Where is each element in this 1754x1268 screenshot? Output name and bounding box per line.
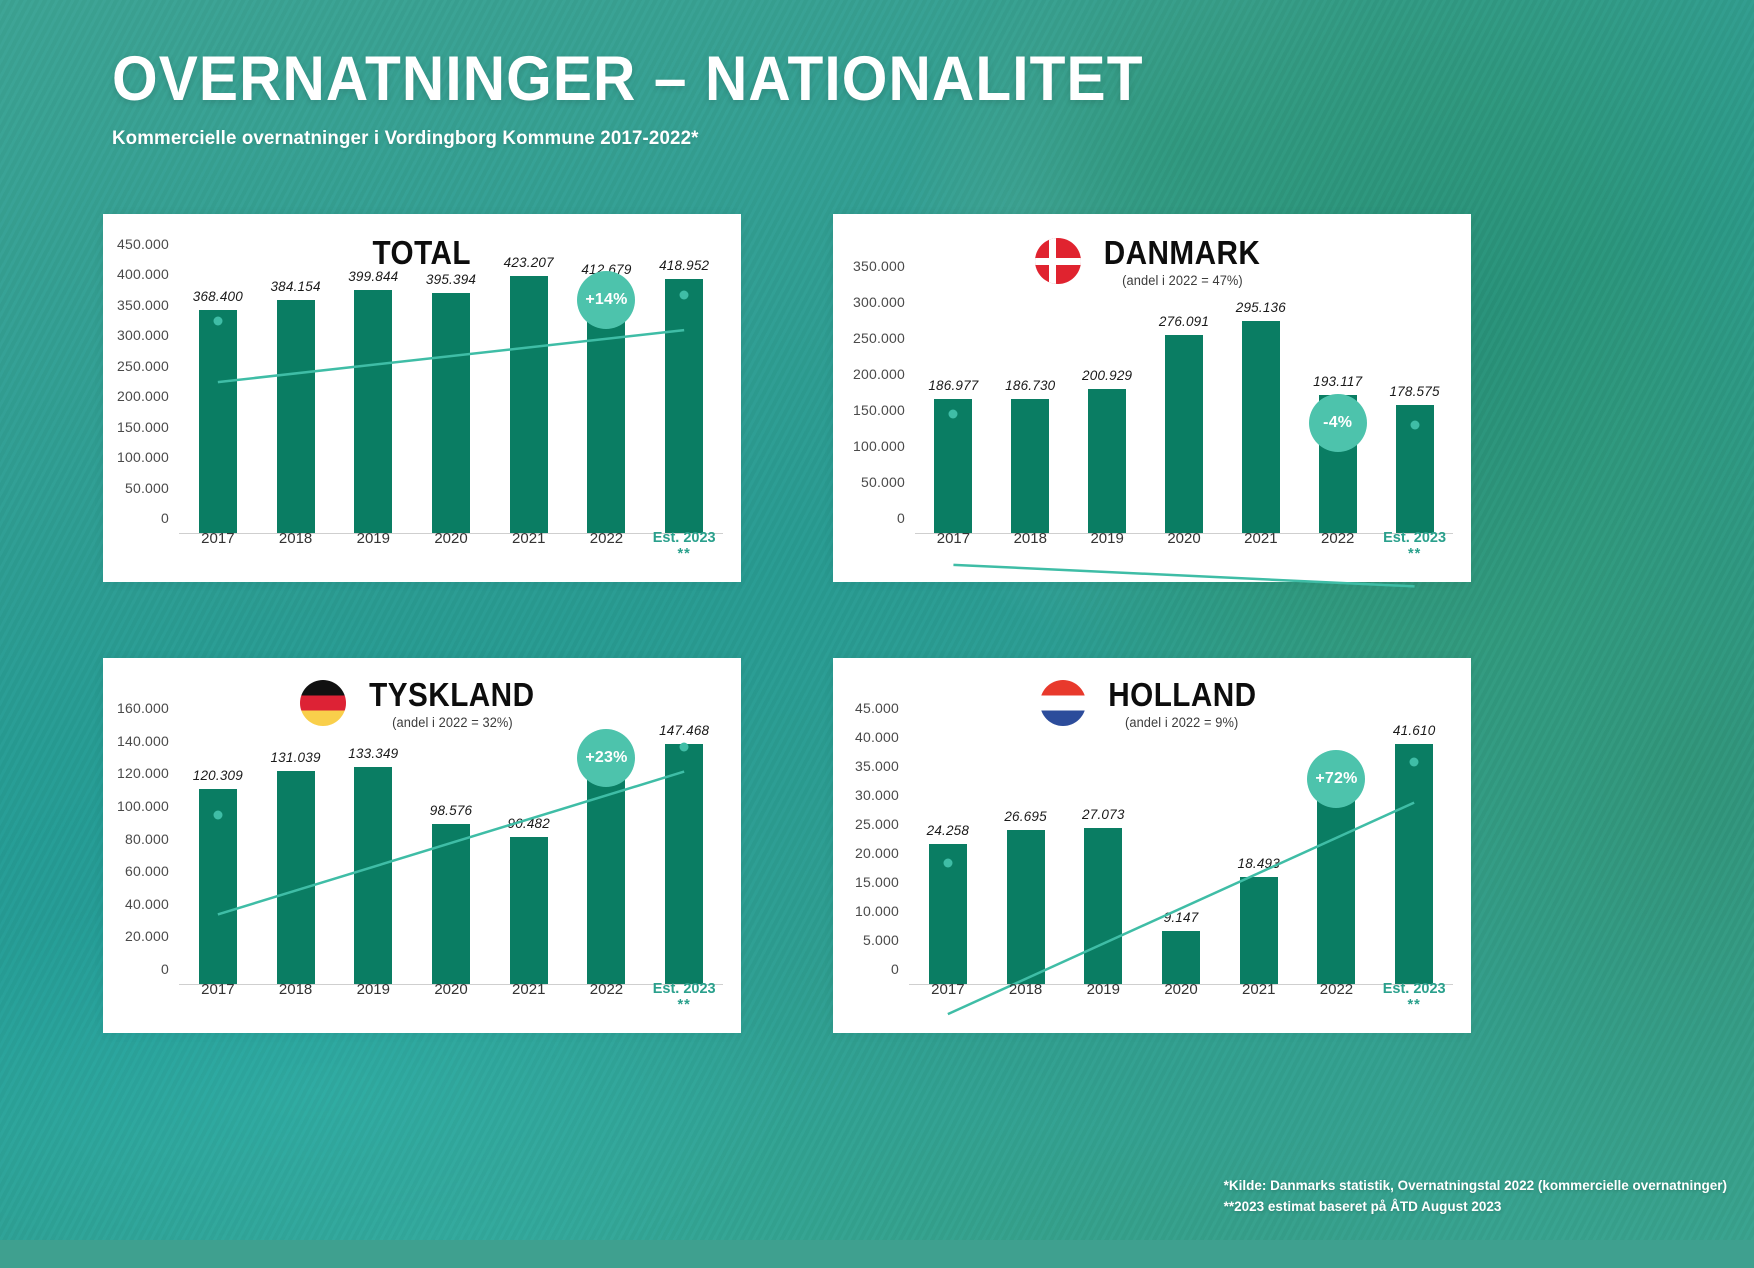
y-tick-label: 160.000: [117, 700, 169, 716]
bar-2018: [1011, 399, 1049, 533]
y-tick-label: 300.000: [117, 327, 169, 343]
bar-column: 147.468: [645, 724, 723, 984]
y-tick-label: 40.000: [125, 896, 169, 912]
growth-badge-holland: +72%: [1307, 750, 1365, 808]
bar-value-label: 193.117: [1313, 374, 1362, 389]
y-tick-label: 25.000: [855, 816, 899, 832]
bar-value-label: 399.844: [348, 269, 398, 284]
x-label-2019: 2019: [334, 981, 412, 1013]
chart-card-total: TOTAL050.000100.000150.000200.000250.000…: [103, 214, 741, 582]
y-tick-label: 200.000: [853, 366, 905, 382]
y-tick-label: 120.000: [117, 765, 169, 781]
y-tick-label: 400.000: [117, 266, 169, 282]
y-tick-label: 0: [891, 961, 899, 977]
bar-value-label: 186.977: [928, 378, 978, 393]
trend-end-dot: [680, 742, 689, 751]
plot-area-tyskland: 020.00040.00060.00080.000100.000120.0001…: [179, 724, 723, 985]
x-label-2017: 2017: [179, 530, 257, 562]
bar-series-tyskland: 120.309131.039133.34998.57690.482133.914…: [179, 724, 723, 984]
bar-column: 178.575: [1376, 282, 1453, 533]
trend-start-dot: [213, 317, 222, 326]
y-tick-label: 45.000: [855, 700, 899, 716]
chart-header-holland: HOLLAND(andel i 2022 = 9%): [833, 678, 1471, 730]
bar-column: 24.258: [909, 724, 987, 984]
footnote-source: *Kilde: Danmarks statistik, Overnatnings…: [1224, 1176, 1727, 1197]
bar-column: 276.091: [1146, 282, 1223, 533]
y-tick-label: 15.000: [855, 874, 899, 890]
plot-area-holland: 05.00010.00015.00020.00025.00030.00035.0…: [909, 724, 1453, 985]
x-axis-labels-tyskland: 201720182019202020212022Est. 2023 **: [179, 981, 723, 1013]
x-label-2018: 2018: [257, 530, 335, 562]
bar-Est. 2023: [665, 744, 703, 984]
bar-column: 26.695: [987, 724, 1065, 984]
bar-value-label: 26.695: [1004, 809, 1047, 824]
chart-title-stack: TYSKLAND(andel i 2022 = 32%): [360, 678, 544, 730]
bar-2021: [510, 276, 548, 533]
bar-column: 186.977: [915, 282, 992, 533]
bar-2022: [587, 766, 625, 984]
bar-2020: [1165, 335, 1203, 533]
bar-value-label: 147.468: [659, 723, 709, 738]
bar-2021: [1242, 321, 1280, 533]
y-tick-label: 350.000: [853, 258, 905, 274]
bar-value-label: 131.039: [270, 750, 320, 765]
footnote-estimate: **2023 estimat baseret på ÅTD August 202…: [1224, 1197, 1727, 1218]
bar-value-label: 18.493: [1237, 856, 1280, 871]
x-label-2022: 2022: [1299, 530, 1376, 562]
y-tick-label: 20.000: [855, 845, 899, 861]
x-label-2021: 2021: [490, 530, 568, 562]
chart-header-danmark: DANMARK(andel i 2022 = 47%): [833, 236, 1471, 288]
x-label-2021: 2021: [1222, 530, 1299, 562]
bar-2019: [1084, 828, 1122, 984]
x-label-2018: 2018: [257, 981, 335, 1013]
chart-title-stack: HOLLAND(andel i 2022 = 9%): [1100, 678, 1265, 730]
bar-column: 90.482: [490, 724, 568, 984]
x-label-2021: 2021: [490, 981, 568, 1013]
y-tick-label: 100.000: [853, 438, 905, 454]
bar-column: 27.073: [1064, 724, 1142, 984]
y-tick-label: 35.000: [855, 758, 899, 774]
y-tick-label: 50.000: [861, 474, 905, 490]
bar-column: 18.493: [1220, 724, 1298, 984]
chart-title-holland: HOLLAND: [1108, 678, 1256, 713]
bar-column: 186.730: [992, 282, 1069, 533]
bar-value-label: 98.576: [430, 803, 473, 818]
x-axis-labels-total: 201720182019202020212022Est. 2023 **: [179, 530, 723, 562]
growth-badge-tyskland: +23%: [577, 729, 635, 787]
y-tick-label: 150.000: [117, 419, 169, 435]
bar-column: 384.154: [257, 260, 335, 533]
bar-2019: [354, 767, 392, 984]
estimate-footnote-marker: **: [678, 997, 691, 1013]
bar-column: 120.309: [179, 724, 257, 984]
bar-value-label: 395.394: [426, 272, 476, 287]
bar-column: 423.207: [490, 260, 568, 533]
flag-cross-horizontal: [1035, 258, 1081, 265]
bar-column: 131.039: [257, 724, 335, 984]
trend-start-dot: [943, 859, 952, 868]
y-tick-label: 50.000: [125, 480, 169, 496]
plot-area-total: 050.000100.000150.000200.000250.000300.0…: [179, 260, 723, 534]
chart-header-tyskland: TYSKLAND(andel i 2022 = 32%): [103, 678, 741, 730]
bar-2019: [354, 290, 392, 533]
y-tick-label: 0: [161, 510, 169, 526]
y-tick-label: 250.000: [117, 358, 169, 374]
y-tick-label: 5.000: [863, 932, 899, 948]
x-label-est-2023: Est. 2023 **: [1376, 530, 1453, 562]
bar-2017: [199, 310, 237, 533]
y-tick-label: 140.000: [117, 733, 169, 749]
x-label-2022: 2022: [568, 530, 646, 562]
trend-end-dot: [1410, 757, 1419, 766]
bar-column: 418.952: [645, 260, 723, 533]
x-label-2020: 2020: [1142, 981, 1220, 1013]
chart-title-stack: DANMARK(andel i 2022 = 47%): [1095, 236, 1269, 288]
page-subtitle: Kommercielle overnatninger i Vordingborg…: [112, 127, 1177, 150]
bar-2021: [510, 837, 548, 984]
x-label-2018: 2018: [987, 981, 1065, 1013]
estimate-footnote-marker: **: [678, 546, 691, 562]
bar-2020: [432, 824, 470, 984]
bar-2019: [1088, 389, 1126, 533]
chart-card-danmark: DANMARK(andel i 2022 = 47%)050.000100.00…: [833, 214, 1471, 582]
x-label-2017: 2017: [909, 981, 987, 1013]
y-tick-label: 250.000: [853, 330, 905, 346]
bar-value-label: 178.575: [1389, 384, 1439, 399]
x-label-2019: 2019: [1069, 530, 1146, 562]
bar-column: 295.136: [1222, 282, 1299, 533]
x-label-2022: 2022: [568, 981, 646, 1013]
bar-column: 98.576: [412, 724, 490, 984]
chart-title-tyskland: TYSKLAND: [369, 678, 534, 713]
bar-2020: [432, 293, 470, 533]
bar-column: 399.844: [334, 260, 412, 533]
flag-de-icon: [300, 680, 346, 726]
bar-value-label: 295.136: [1236, 300, 1286, 315]
y-tick-label: 300.000: [853, 294, 905, 310]
y-tick-label: 100.000: [117, 798, 169, 814]
bar-column: 133.349: [334, 724, 412, 984]
bar-2021: [1240, 877, 1278, 984]
x-label-2021: 2021: [1220, 981, 1298, 1013]
y-tick-label: 30.000: [855, 787, 899, 803]
bar-value-label: 9.147: [1164, 910, 1199, 925]
bar-column: 9.147: [1142, 724, 1220, 984]
bar-column: 395.394: [412, 260, 490, 533]
y-tick-label: 60.000: [125, 863, 169, 879]
bar-2018: [277, 771, 315, 984]
flag-dk-icon: [1035, 238, 1081, 284]
y-tick-label: 80.000: [125, 831, 169, 847]
x-label-2019: 2019: [334, 530, 412, 562]
bar-column: 368.400: [179, 260, 257, 533]
x-label-est-2023: Est. 2023 **: [1375, 981, 1453, 1013]
bar-column: 200.929: [1069, 282, 1146, 533]
x-axis-labels-danmark: 201720182019202020212022Est. 2023 **: [915, 530, 1453, 562]
trend-start-dot: [949, 410, 958, 419]
bar-series-holland: 24.25826.69527.0739.14718.49335.741.610: [909, 724, 1453, 984]
x-label-2017: 2017: [915, 530, 992, 562]
x-label-est-2023: Est. 2023 **: [645, 981, 723, 1013]
estimate-footnote-marker: **: [1408, 546, 1421, 562]
bar-2018: [1007, 830, 1045, 984]
x-label-2020: 2020: [412, 530, 490, 562]
estimate-footnote-marker: **: [1408, 997, 1421, 1013]
plot-area-danmark: 050.000100.000150.000200.000250.000300.0…: [915, 282, 1453, 534]
bar-value-label: 24.258: [927, 823, 970, 838]
chart-card-holland: HOLLAND(andel i 2022 = 9%)05.00010.00015…: [833, 658, 1471, 1033]
y-tick-label: 450.000: [117, 236, 169, 252]
bar-series-total: 368.400384.154399.844395.394423.207412.6…: [179, 260, 723, 533]
bar-value-label: 200.929: [1082, 368, 1132, 383]
trend-end-dot: [1410, 420, 1419, 429]
bar-value-label: 120.309: [193, 768, 243, 783]
y-tick-label: 0: [897, 510, 905, 526]
bar-value-label: 384.154: [270, 279, 320, 294]
bar-2018: [277, 300, 315, 533]
bar-2020: [1162, 931, 1200, 984]
bar-value-label: 90.482: [507, 816, 550, 831]
x-label-est-2023: Est. 2023 **: [645, 530, 723, 562]
footnotes: *Kilde: Danmarks statistik, Overnatnings…: [1224, 1176, 1727, 1218]
chart-card-tyskland: TYSKLAND(andel i 2022 = 32%)020.00040.00…: [103, 658, 741, 1033]
x-label-2018: 2018: [992, 530, 1069, 562]
y-tick-label: 40.000: [855, 729, 899, 745]
y-tick-label: 20.000: [125, 928, 169, 944]
x-label-2017: 2017: [179, 981, 257, 1013]
x-label-2022: 2022: [1298, 981, 1376, 1013]
header: OVERNATNINGER – NATIONALITET Kommerciell…: [112, 48, 1221, 150]
growth-badge-total: +14%: [577, 271, 635, 329]
y-tick-label: 150.000: [853, 402, 905, 418]
y-tick-label: 0: [161, 961, 169, 977]
y-tick-label: 350.000: [117, 297, 169, 313]
bar-2022: [1317, 778, 1355, 984]
y-tick-label: 200.000: [117, 388, 169, 404]
bar-value-label: 418.952: [659, 258, 709, 273]
flag-nl-icon: [1040, 680, 1086, 726]
trend-end-dot: [680, 291, 689, 300]
bar-value-label: 186.730: [1005, 378, 1055, 393]
x-label-2020: 2020: [1146, 530, 1223, 562]
bar-value-label: 368.400: [193, 289, 243, 304]
bar-value-label: 41.610: [1393, 723, 1436, 738]
y-tick-label: 10.000: [855, 903, 899, 919]
background-image: [0, 0, 1754, 1240]
chart-title-danmark: DANMARK: [1104, 236, 1261, 271]
growth-badge-danmark: -4%: [1309, 394, 1367, 452]
bar-series-danmark: 186.977186.730200.929276.091295.136193.1…: [915, 282, 1453, 533]
bar-Est. 2023: [1395, 744, 1433, 984]
bar-Est. 2023: [665, 279, 703, 533]
x-label-2020: 2020: [412, 981, 490, 1013]
bar-value-label: 423.207: [504, 255, 554, 270]
flag-cross-vertical: [1049, 238, 1056, 284]
x-axis-labels-holland: 201720182019202020212022Est. 2023 **: [909, 981, 1453, 1013]
bar-value-label: 133.349: [348, 746, 398, 761]
page-title: OVERNATNINGER – NATIONALITET: [112, 48, 1144, 111]
trend-start-dot: [213, 811, 222, 820]
bar-2017: [934, 399, 972, 533]
x-label-2019: 2019: [1064, 981, 1142, 1013]
bar-value-label: 27.073: [1082, 807, 1125, 822]
y-tick-label: 100.000: [117, 449, 169, 465]
bar-value-label: 276.091: [1159, 314, 1209, 329]
